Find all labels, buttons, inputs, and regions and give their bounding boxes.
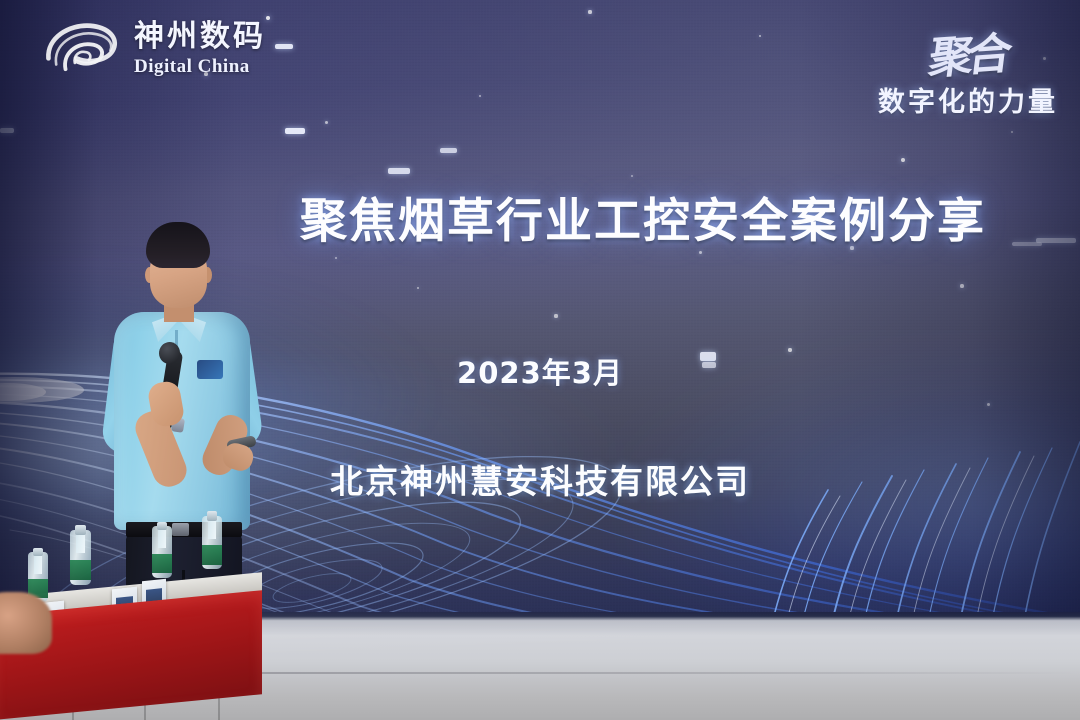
foreground-table <box>0 580 262 720</box>
event-logo: 聚合 数字化的力量 <box>878 20 1058 119</box>
speaker-chest-logo <box>197 360 223 379</box>
bottle-label <box>152 554 172 573</box>
water-bottle <box>202 516 222 592</box>
bottle-label <box>70 560 91 580</box>
bottle-cap <box>207 511 217 520</box>
brand-name-cn: 神州数码 <box>134 22 266 52</box>
bottle-cap <box>75 525 86 534</box>
bottle-cap <box>33 548 43 557</box>
speaker-belt-buckle <box>172 523 189 536</box>
event-tagline: 数字化的力量 <box>878 80 1058 119</box>
water-bottle <box>70 530 91 608</box>
bottle-label <box>202 545 222 565</box>
swirl-mark-icon <box>42 18 120 80</box>
audience-member-foreground <box>0 592 52 654</box>
slide-title: 聚焦烟草行业工控安全案例分享 <box>300 182 1010 251</box>
screenshot-root: 神州数码 Digital China 聚合 数字化的力量 聚焦烟草行业工控安全案… <box>0 0 1080 720</box>
event-brush-title: 聚合 <box>926 17 1011 86</box>
brand-name-en: Digital China <box>134 57 266 76</box>
speaker-hair <box>146 222 210 268</box>
digital-china-logo: 神州数码 Digital China <box>42 18 266 80</box>
bottle-cap <box>157 522 167 531</box>
